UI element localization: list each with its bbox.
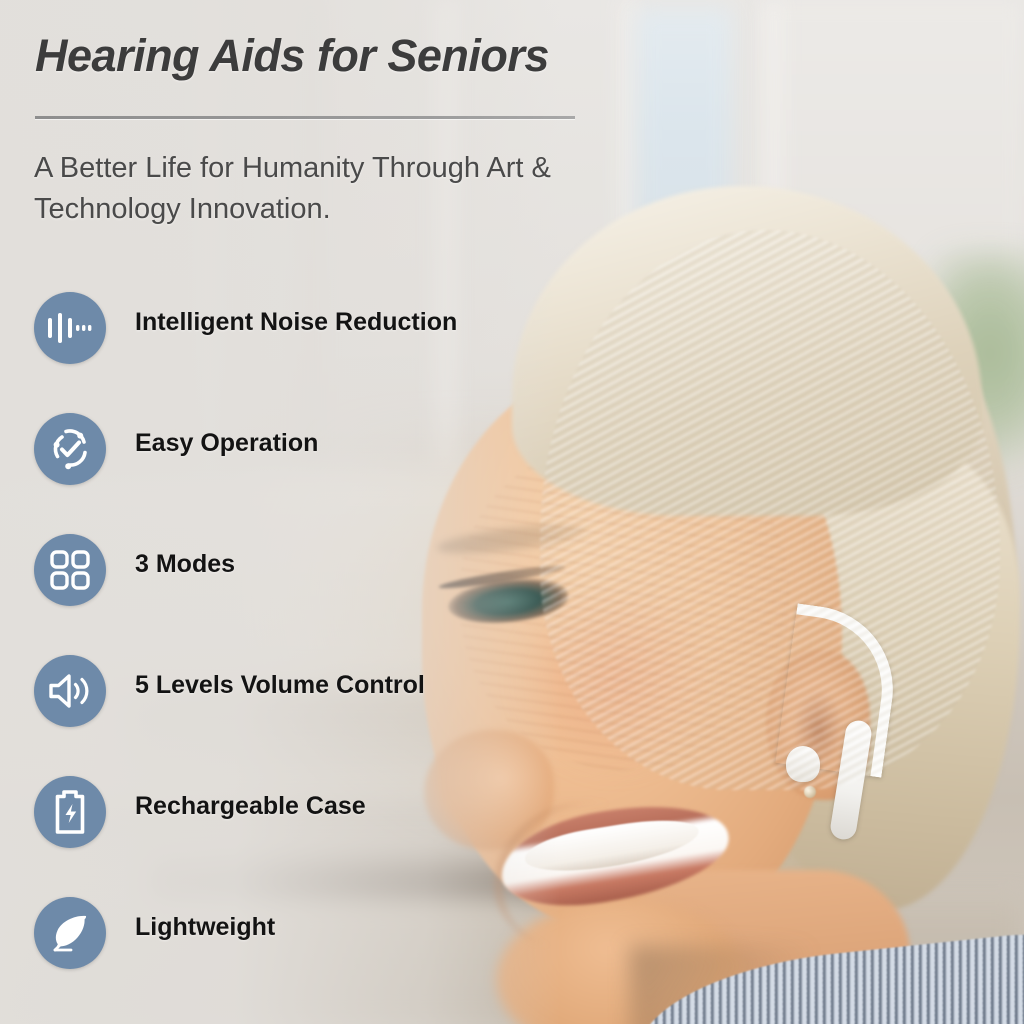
- battery-charging-icon: [34, 776, 106, 848]
- feature-label: 5 Levels Volume Control: [135, 671, 425, 700]
- infographic-canvas: Hearing Aids for Seniors A Better Life f…: [0, 0, 1024, 1024]
- sound-wave-icon: [34, 292, 106, 364]
- feature-list: Intelligent Noise Reduction: [34, 292, 554, 1018]
- feature-item: 5 Levels Volume Control: [34, 655, 554, 776]
- feature-item: Easy Operation: [34, 413, 554, 534]
- feature-label: 3 Modes: [135, 550, 235, 579]
- tagline: A Better Life for Humanity Through Art &…: [34, 148, 634, 230]
- feature-item: 3 Modes: [34, 534, 554, 655]
- feature-item: Lightweight: [34, 897, 554, 1018]
- page-title: Hearing Aids for Seniors: [35, 30, 549, 82]
- feature-item: Rechargeable Case: [34, 776, 554, 897]
- feature-label: Lightweight: [135, 913, 275, 942]
- grid-four-icon: [34, 534, 106, 606]
- check-circle-icon: [34, 413, 106, 485]
- feature-label: Rechargeable Case: [135, 792, 366, 821]
- feature-item: Intelligent Noise Reduction: [34, 292, 554, 413]
- feature-label: Intelligent Noise Reduction: [135, 308, 457, 337]
- feather-icon: [34, 897, 106, 969]
- content-layer: Hearing Aids for Seniors A Better Life f…: [0, 0, 1024, 1024]
- title-divider: [35, 116, 575, 119]
- speaker-volume-icon: [34, 655, 106, 727]
- feature-label: Easy Operation: [135, 429, 318, 458]
